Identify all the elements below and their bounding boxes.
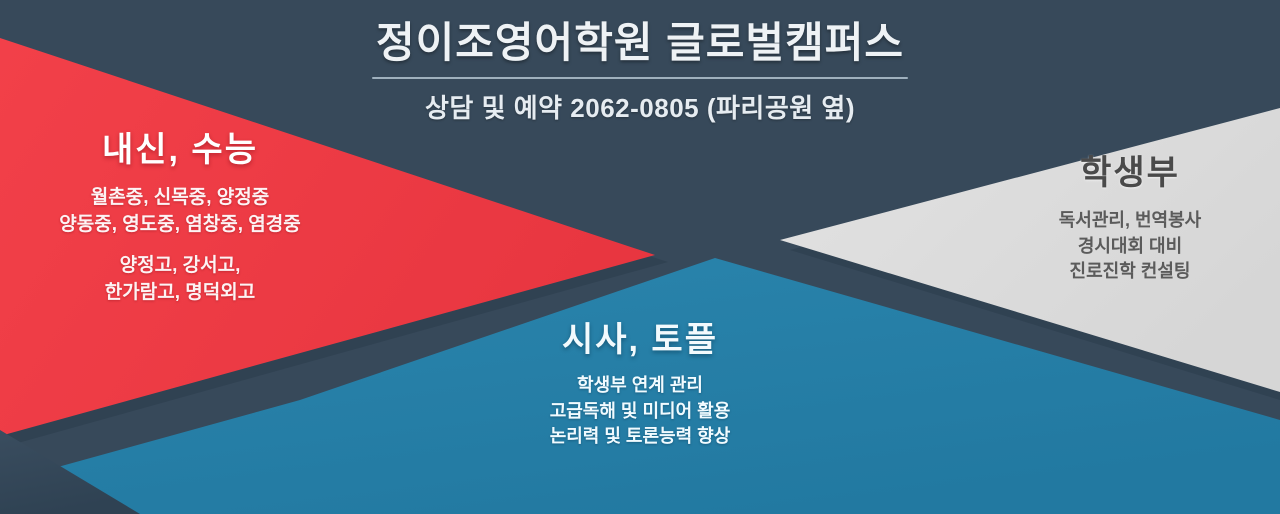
background-shapes (0, 0, 1280, 514)
academy-promo-banner: 정이조영어학원 글로벌캠퍼스 상담 및 예약 2062-0805 (파리공원 옆… (0, 0, 1280, 514)
